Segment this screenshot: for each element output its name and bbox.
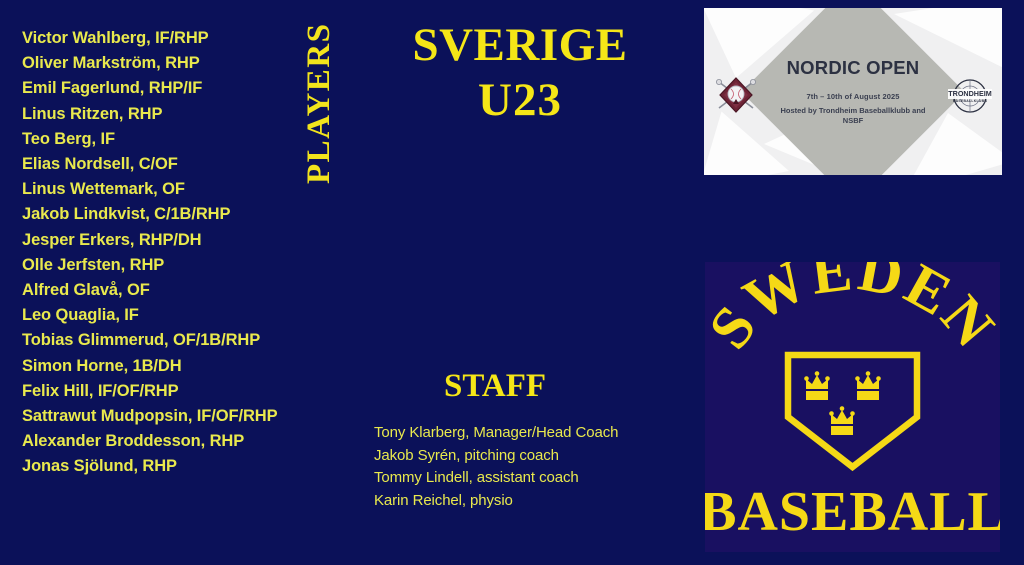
list-item: Victor Wahlberg, IF/RHP	[22, 26, 312, 51]
staff-list: Tony Klarberg, Manager/Head Coach Jakob …	[374, 422, 674, 512]
list-item: Karin Reichel, physio	[374, 490, 674, 513]
list-item: Sattrawut Mudpopsin, IF/OF/RHP	[22, 404, 312, 429]
banner-dates: 7th – 10th of August 2025	[806, 92, 899, 101]
list-item: Alexander Broddesson, RHP	[22, 429, 312, 454]
banner-title: NORDIC OPEN	[787, 57, 920, 79]
baseball-diamond-logo-icon	[712, 72, 760, 118]
home-plate-outline	[788, 355, 917, 467]
list-item: Jakob Syrén, pitching coach	[374, 445, 674, 468]
list-item: Emil Fagerlund, RHP/IF	[22, 76, 312, 101]
three-crowns-icon	[804, 371, 881, 435]
list-item: Felix Hill, IF/OF/RHP	[22, 379, 312, 404]
trondheim-baseballklubb-logo-icon: TRONDHEIM BASEBALLKLUBB	[944, 74, 996, 118]
list-item: Jakob Lindkvist, C/1B/RHP	[22, 202, 312, 227]
list-item: Linus Ritzen, RHP	[22, 102, 312, 127]
banner-host-text: Hosted by Trondheim Baseballklubb and NS…	[773, 106, 933, 126]
list-item: Jonas Sjölund, RHP	[22, 454, 312, 479]
list-item: Tommy Lindell, assistant coach	[374, 467, 674, 490]
title-line-2: U23	[355, 73, 685, 128]
sweden-baseball-logo-svg: SWEDEN	[705, 262, 1000, 552]
staff-heading: STAFF	[375, 367, 615, 405]
list-item: Teo Berg, IF	[22, 127, 312, 152]
list-item: Jesper Erkers, RHP/DH	[22, 228, 312, 253]
list-item: Tony Klarberg, Manager/Head Coach	[374, 422, 674, 445]
players-section-label: PLAYERS	[296, 4, 342, 184]
sweden-baseball-logo: SWEDEN	[705, 262, 1000, 552]
list-item: Olle Jerfsten, RHP	[22, 253, 312, 278]
nordic-open-banner: NORDIC OPEN 7th – 10th of August 2025 Ho…	[704, 8, 1002, 175]
players-list: Victor Wahlberg, IF/RHP Oliver Markström…	[22, 26, 312, 480]
sweden-arched-text: SWEDEN	[705, 262, 1000, 361]
list-item: Linus Wettemark, OF	[22, 177, 312, 202]
list-item: Alfred Glavå, OF	[22, 278, 312, 303]
list-item: Simon Horne, 1B/DH	[22, 354, 312, 379]
baseball-text: BASEBALL	[705, 481, 1000, 543]
page-title: SVERIGE U23	[355, 18, 685, 128]
list-item: Oliver Markström, RHP	[22, 51, 312, 76]
list-item: Leo Quaglia, IF	[22, 303, 312, 328]
list-item: Elias Nordsell, C/OF	[22, 152, 312, 177]
svg-text:TRONDHEIM: TRONDHEIM	[948, 89, 992, 98]
title-line-1: SVERIGE	[412, 19, 627, 71]
list-item: Tobias Glimmerud, OF/1B/RHP	[22, 328, 312, 353]
svg-text:BASEBALLKLUBB: BASEBALLKLUBB	[953, 99, 987, 103]
